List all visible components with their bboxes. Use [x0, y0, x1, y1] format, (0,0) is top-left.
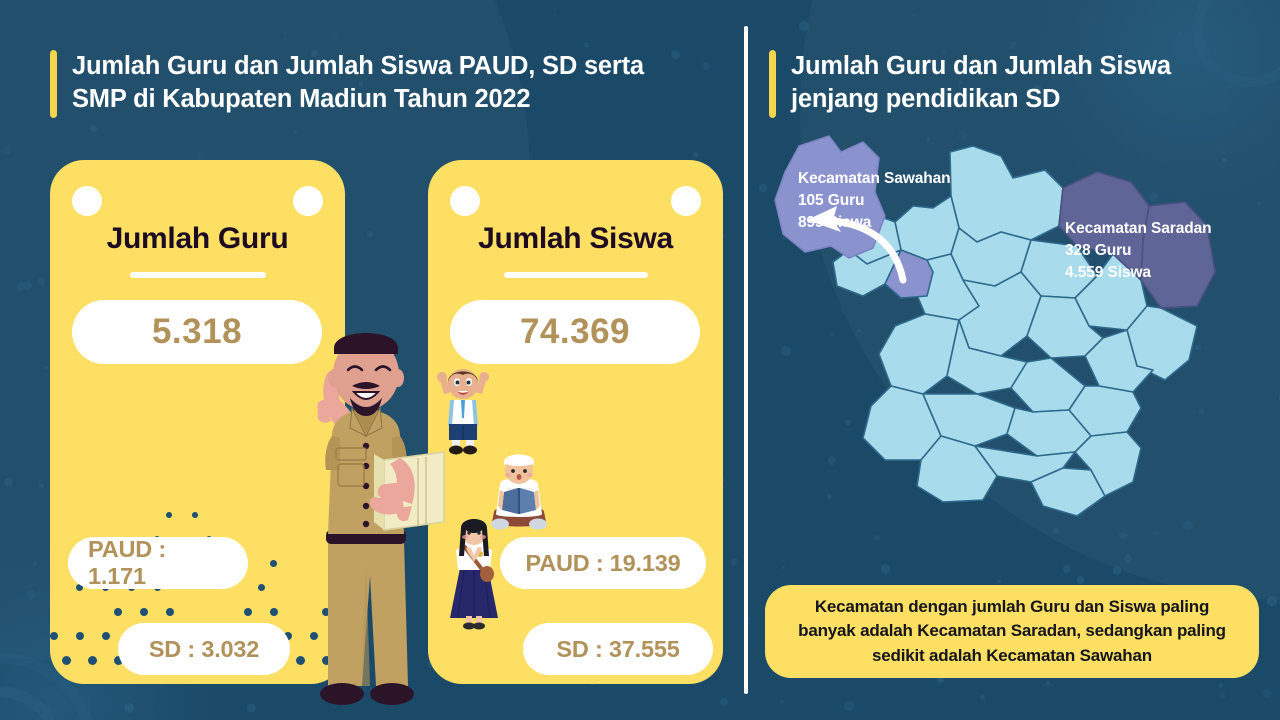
- map-district: [879, 314, 959, 394]
- right-heading-accent-bar: [769, 50, 776, 118]
- card-title-rule: [130, 272, 266, 278]
- halftone-dot: [166, 608, 174, 616]
- right-heading-text: Jumlah Guru dan Jumlah Siswa jenjang pen…: [791, 50, 1171, 116]
- halftone-dot: [140, 608, 148, 616]
- halftone-dot: [244, 608, 252, 616]
- summary-note-text: Kecamatan dengan jumlah Guru dan Siswa p…: [787, 595, 1237, 667]
- card-hole-right: [671, 186, 701, 216]
- left-panel: Jumlah Guru dan Jumlah Siswa PAUD, SD se…: [0, 0, 745, 720]
- halftone-dot: [114, 608, 122, 616]
- right-panel: Jumlah Guru dan Jumlah Siswa jenjang pen…: [745, 0, 1280, 720]
- card-title-guru: Jumlah Guru: [50, 222, 345, 256]
- siswa-sd-pill: SD : 37.555: [523, 623, 713, 675]
- girl-student-illustration: [444, 510, 504, 630]
- boy-cheering-illustration: [430, 360, 496, 456]
- summary-note: Kecamatan dengan jumlah Guru dan Siswa p…: [765, 585, 1259, 678]
- halftone-dot: [166, 512, 172, 518]
- halftone-dot: [88, 656, 97, 665]
- halftone-dot: [50, 632, 58, 640]
- right-heading: Jumlah Guru dan Jumlah Siswa jenjang pen…: [769, 50, 1249, 130]
- map-label-sawahan: Kecamatan Sawahan 105 Guru 899 Siswa: [798, 168, 951, 234]
- card-title-rule: [504, 272, 648, 278]
- left-heading: Jumlah Guru dan Jumlah Siswa PAUD, SD se…: [50, 50, 720, 130]
- halftone-dot: [62, 656, 71, 665]
- map-label-saradan: Kecamatan Saradan 328 Guru 4.559 Siswa: [1065, 218, 1211, 284]
- card-hole-right: [293, 186, 323, 216]
- panel-divider: [744, 26, 748, 694]
- left-heading-text: Jumlah Guru dan Jumlah Siswa PAUD, SD se…: [72, 50, 644, 116]
- card-title-siswa: Jumlah Siswa: [428, 222, 723, 256]
- guru-paud-pill: PAUD : 1.171: [68, 537, 248, 589]
- halftone-dot: [102, 632, 110, 640]
- halftone-dot: [258, 584, 265, 591]
- map-district: [959, 272, 1041, 356]
- total-siswa-pill: 74.369: [450, 300, 700, 364]
- guru-sd-pill: SD : 3.032: [118, 623, 290, 675]
- map-district: [950, 146, 1063, 242]
- card-hole-left: [450, 186, 480, 216]
- halftone-dot: [192, 512, 198, 518]
- card-hole-left: [72, 186, 102, 216]
- left-heading-accent-bar: [50, 50, 57, 118]
- halftone-dot: [76, 632, 84, 640]
- siswa-paud-pill: PAUD : 19.139: [500, 537, 706, 589]
